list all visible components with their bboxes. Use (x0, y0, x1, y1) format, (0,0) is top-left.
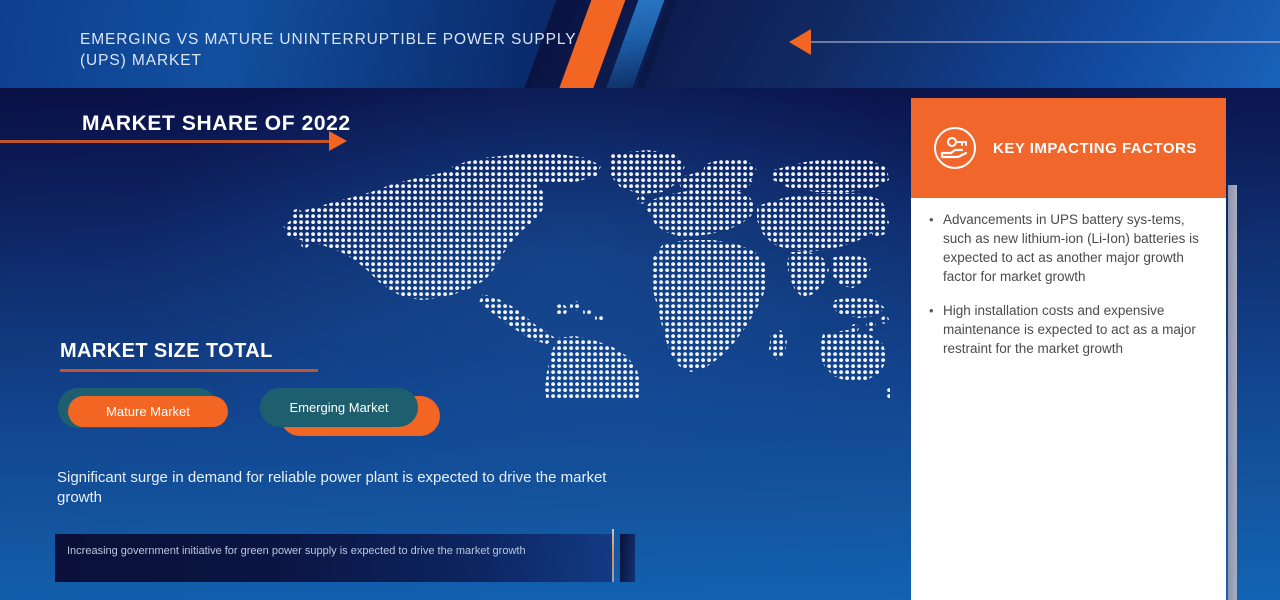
list-item: • Advancements in UPS battery sys-tems, … (911, 210, 1226, 286)
market-share-rule (0, 140, 330, 143)
dotted-world-map (275, 148, 890, 398)
bullet-dot-icon: • (929, 210, 943, 229)
list-item-text: High installation costs and expensive ma… (943, 301, 1212, 358)
list-item: • High installation costs and expensive … (911, 301, 1226, 358)
legend-mature-label: Mature Market (68, 396, 228, 427)
header-arrow-line (808, 41, 1280, 43)
infographic-slide: EMERGING VS MATURE UNINTERRUPTIBLE POWER… (0, 0, 1280, 600)
panel-shadow-edge (1228, 185, 1237, 600)
market-size-rule (60, 369, 318, 372)
banner-divider-line (612, 529, 614, 582)
market-share-heading: MARKET SHARE OF 2022 (82, 112, 351, 136)
header-bar: EMERGING VS MATURE UNINTERRUPTIBLE POWER… (0, 0, 1280, 88)
key-factors-list: • Advancements in UPS battery sys-tems, … (911, 210, 1226, 373)
panel-title: KEY IMPACTING FACTORS (993, 140, 1197, 157)
legend-item-mature-market[interactable]: Mature Market (58, 388, 238, 436)
bottom-banner: Increasing government initiative for gre… (55, 534, 613, 582)
hand-holding-key-icon (933, 126, 977, 170)
legend-item-emerging-market[interactable]: Emerging Market (260, 388, 440, 436)
legend-emerging-label: Emerging Market (260, 388, 418, 427)
list-item-text: Advancements in UPS battery sys-tems, su… (943, 210, 1212, 286)
banner-tail-block (620, 534, 635, 582)
panel-header: KEY IMPACTING FACTORS (911, 98, 1226, 198)
bottom-banner-text: Increasing government initiative for gre… (67, 544, 587, 559)
arrow-left-icon (789, 29, 811, 55)
page-title: EMERGING VS MATURE UNINTERRUPTIBLE POWER… (80, 29, 600, 71)
bullet-dot-icon: • (929, 301, 943, 320)
key-impacting-factors-panel: KEY IMPACTING FACTORS • Advancements in … (911, 98, 1226, 600)
market-size-heading: MARKET SIZE TOTAL (60, 340, 273, 363)
lead-paragraph: Significant surge in demand for reliable… (57, 468, 617, 508)
